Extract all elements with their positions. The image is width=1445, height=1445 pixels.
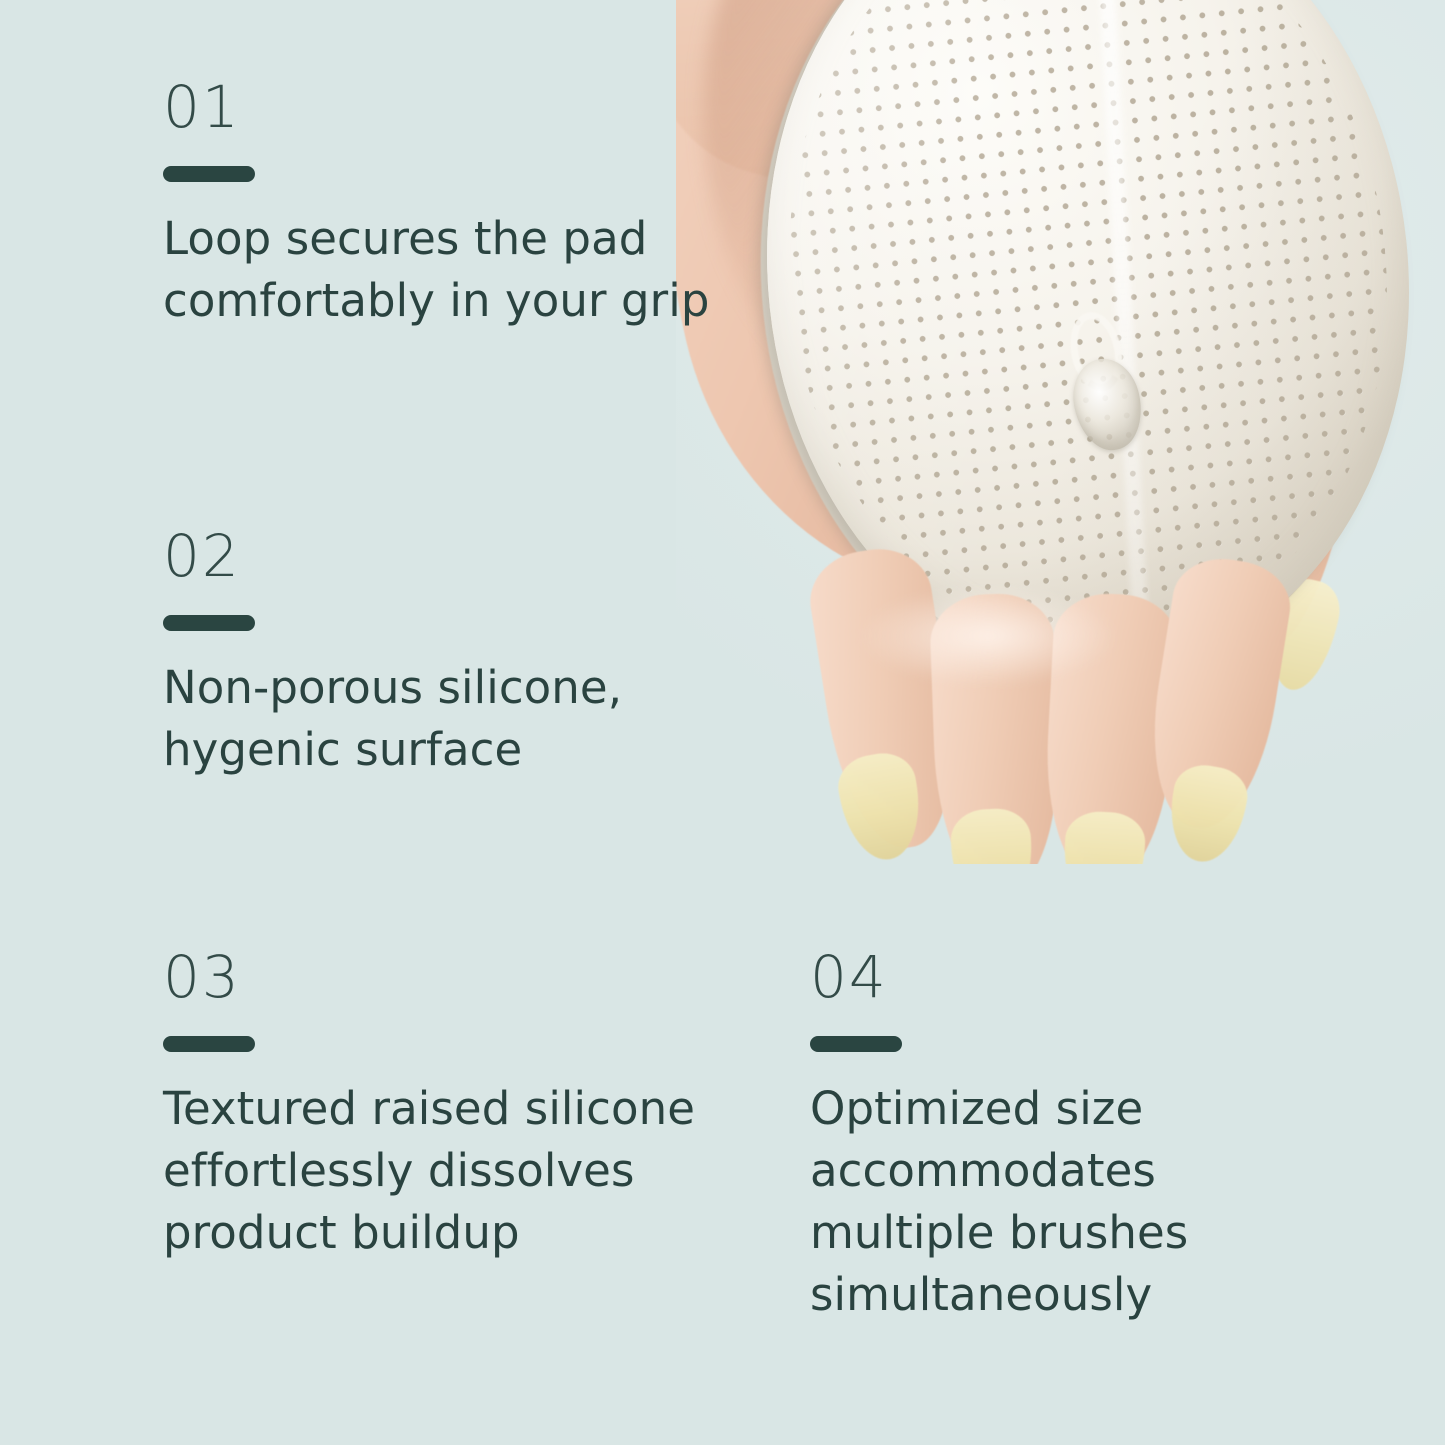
feature-description-02: Non-porous silicone, hygenic surface xyxy=(163,657,683,781)
infographic-canvas: 01 Loop secures the pad comfortably in y… xyxy=(0,0,1445,1445)
feature-number-04: 04 xyxy=(810,948,1310,1006)
feature-block-03: 03 Textured raised silicone effortlessly… xyxy=(163,948,703,1264)
product-photo xyxy=(676,0,1445,864)
feature-divider-04 xyxy=(810,1036,902,1052)
feature-description-01: Loop secures the pad comfortably in your… xyxy=(163,208,723,332)
feature-number-03: 03 xyxy=(163,948,703,1006)
feature-divider-02 xyxy=(163,615,255,631)
feature-divider-03 xyxy=(163,1036,255,1052)
feature-number-01: 01 xyxy=(163,78,723,136)
feature-description-03: Textured raised silicone effortlessly di… xyxy=(163,1078,703,1264)
feature-description-04: Optimized size accommodates multiple bru… xyxy=(810,1078,1310,1326)
knuckle-highlight xyxy=(858,586,1118,686)
feature-divider-01 xyxy=(163,166,255,182)
feature-number-02: 02 xyxy=(163,527,683,585)
feature-block-04: 04 Optimized size accommodates multiple … xyxy=(810,948,1310,1326)
feature-block-02: 02 Non-porous silicone, hygenic surface xyxy=(163,527,683,781)
feature-block-01: 01 Loop secures the pad comfortably in y… xyxy=(163,78,723,332)
